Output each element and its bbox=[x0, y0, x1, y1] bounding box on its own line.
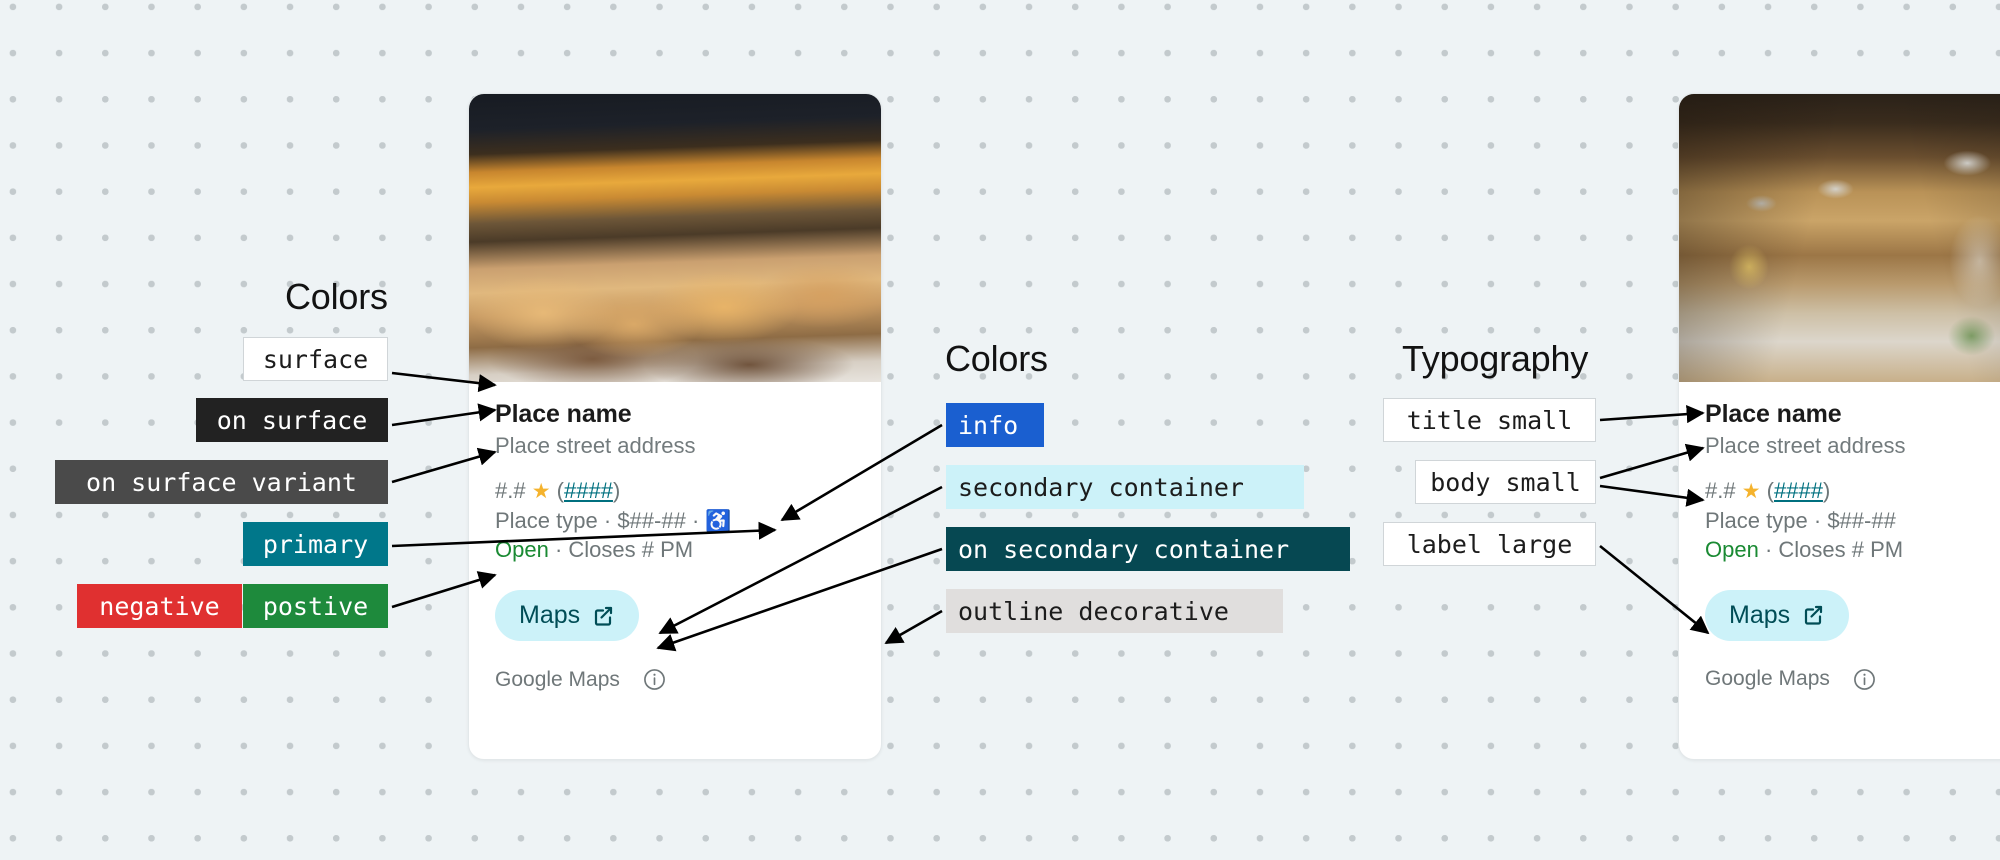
google-maps-label: Google Maps bbox=[1705, 667, 1830, 691]
price-range: $##-## bbox=[617, 508, 686, 533]
token-chip-secondary-container[interactable]: secondary container bbox=[946, 465, 1304, 509]
rating-value: #.# bbox=[1705, 478, 1736, 503]
wheelchair-accessible-icon: ♿ bbox=[705, 510, 731, 533]
hours-line: Open · Closes # PM bbox=[1705, 535, 2000, 564]
place-name: Place name bbox=[1705, 400, 2000, 429]
place-type: Place type bbox=[495, 508, 598, 533]
maps-button[interactable]: Maps bbox=[1705, 590, 1849, 641]
card-footer: Google Maps bbox=[469, 641, 881, 716]
review-count-wrap: (####) bbox=[1767, 478, 1831, 503]
token-chip-body-small[interactable]: body small bbox=[1415, 460, 1596, 504]
dot-separator-1: · bbox=[1814, 508, 1821, 533]
token-chip-negative[interactable]: negative bbox=[77, 584, 242, 628]
maps-button[interactable]: Maps bbox=[495, 590, 639, 641]
place-address: Place street address bbox=[495, 433, 855, 459]
review-count-wrap: (####) bbox=[557, 478, 621, 503]
closing-time: Closes # PM bbox=[1778, 537, 1903, 562]
price-range: $##-## bbox=[1827, 508, 1896, 533]
place-card-right[interactable]: Place name Place street address #.# ★ (#… bbox=[1678, 93, 2000, 760]
cafe-interior-photo bbox=[1679, 94, 2000, 382]
place-type: Place type bbox=[1705, 508, 1808, 533]
card-footer: Google Maps bbox=[1679, 641, 2000, 716]
info-circle-icon[interactable] bbox=[1852, 667, 1877, 692]
section-title-colors-mid: Colors bbox=[945, 338, 1048, 380]
external-link-icon bbox=[591, 604, 615, 628]
open-status: Open bbox=[1705, 537, 1759, 562]
rating-value: #.# bbox=[495, 478, 526, 503]
app-canvas: Colors Colors Typography surface on surf… bbox=[0, 0, 2000, 860]
token-chip-title-small[interactable]: title small bbox=[1383, 398, 1596, 442]
hours-line: Open · Closes # PM bbox=[495, 535, 855, 564]
token-chip-outline-decorative[interactable]: outline decorative bbox=[946, 589, 1283, 633]
bakery-pastries-photo bbox=[469, 94, 881, 382]
token-chip-positive[interactable]: postive bbox=[243, 584, 388, 628]
token-chip-surface[interactable]: surface bbox=[243, 337, 388, 381]
token-chip-on-surface-variant[interactable]: on surface variant bbox=[55, 460, 388, 504]
dot-separator-1: · bbox=[604, 508, 611, 533]
token-chip-info[interactable]: info bbox=[946, 403, 1044, 447]
token-chip-on-secondary-container[interactable]: on secondary container bbox=[946, 527, 1350, 571]
section-title-typography: Typography bbox=[1402, 338, 1588, 380]
closing-time: Closes # PM bbox=[568, 537, 693, 562]
info-circle-icon[interactable] bbox=[642, 667, 667, 692]
type-price-line: Place type · $##-## · ♿ bbox=[495, 506, 855, 536]
token-chip-on-surface[interactable]: on surface bbox=[196, 398, 388, 442]
star-icon: ★ bbox=[1742, 480, 1761, 503]
type-price-line: Place type · $##-## bbox=[1705, 506, 2000, 535]
dot-separator-2: · bbox=[692, 508, 699, 533]
star-icon: ★ bbox=[532, 480, 551, 503]
rating-line: #.# ★ (####) bbox=[495, 476, 855, 506]
rating-line: #.# ★ (####) bbox=[1705, 476, 2000, 506]
review-count-link[interactable]: #### bbox=[564, 478, 613, 503]
place-address: Place street address bbox=[1705, 433, 2000, 459]
open-status: Open bbox=[495, 537, 549, 562]
token-chip-primary[interactable]: primary bbox=[243, 522, 388, 566]
place-card-left[interactable]: Place name Place street address #.# ★ (#… bbox=[468, 93, 882, 760]
maps-button-label: Maps bbox=[519, 601, 580, 630]
dot-separator-3: · bbox=[1765, 537, 1772, 562]
token-chip-label-large[interactable]: label large bbox=[1383, 522, 1596, 566]
place-name: Place name bbox=[495, 400, 855, 429]
dot-separator-3: · bbox=[555, 537, 562, 562]
review-count-link[interactable]: #### bbox=[1774, 478, 1823, 503]
google-maps-label: Google Maps bbox=[495, 668, 620, 692]
section-title-colors-left: Colors bbox=[285, 276, 388, 318]
maps-button-label: Maps bbox=[1729, 601, 1790, 630]
arrow-outline-decorative bbox=[886, 611, 942, 643]
external-link-icon bbox=[1801, 603, 1825, 627]
